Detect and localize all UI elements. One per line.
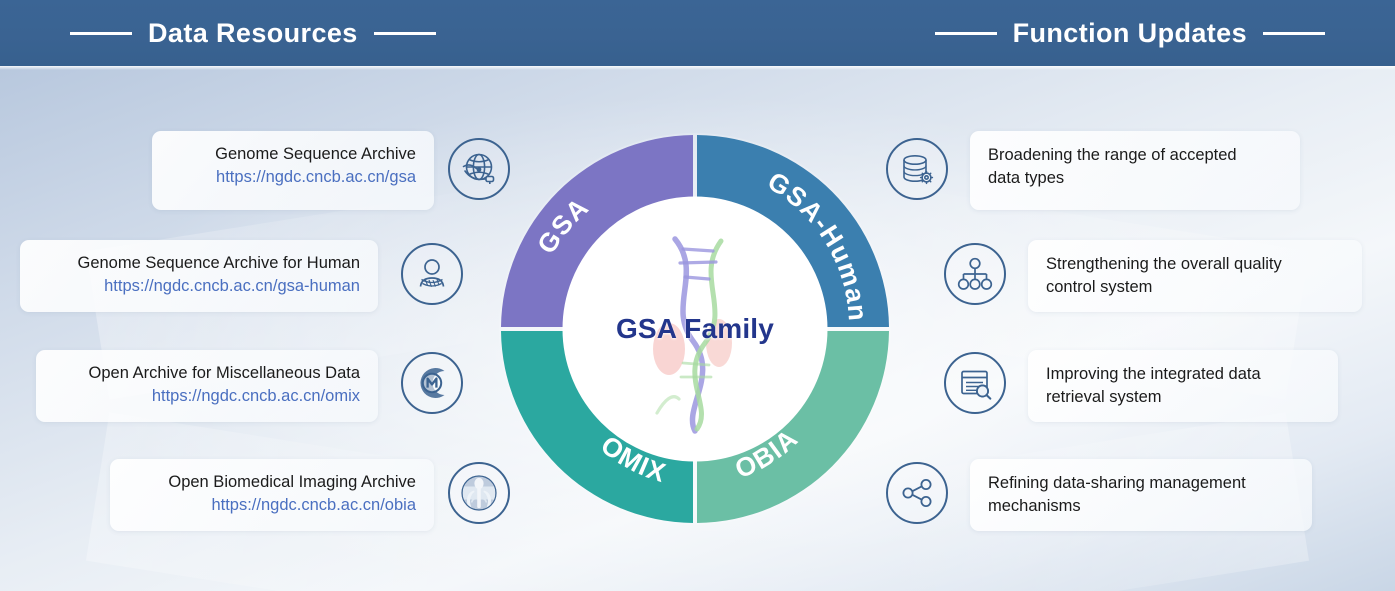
function-update-line: Broadening the range of accepted bbox=[988, 144, 1282, 167]
header-rule-left bbox=[935, 32, 997, 35]
document-search-icon[interactable] bbox=[944, 352, 1006, 414]
header-rule-right bbox=[374, 32, 436, 35]
infographic-canvas: Data Resources Function Updates Genome S… bbox=[0, 0, 1395, 591]
data-resource-card-omix[interactable]: Open Archive for Miscellaneous Data http… bbox=[36, 350, 378, 422]
data-resource-url[interactable]: https://ngdc.cncb.ac.cn/gsa-human bbox=[38, 276, 360, 298]
header-bar: Data Resources Function Updates bbox=[0, 0, 1395, 66]
data-resource-url[interactable]: https://ngdc.cncb.ac.cn/gsa bbox=[170, 167, 416, 189]
function-update-card-4[interactable]: Refining data-sharing management mechani… bbox=[970, 459, 1312, 531]
header-rule-left bbox=[70, 32, 132, 35]
database-gear-icon[interactable] bbox=[886, 138, 948, 200]
header-right-group: Function Updates bbox=[935, 0, 1325, 66]
omix-m-logo-icon[interactable] bbox=[401, 352, 463, 414]
share-nodes-icon[interactable] bbox=[886, 462, 948, 524]
function-update-line: Refining data-sharing management bbox=[988, 472, 1294, 495]
function-update-line: retrieval system bbox=[1046, 386, 1320, 409]
person-dna-icon[interactable] bbox=[401, 243, 463, 305]
function-update-line: Strengthening the overall quality bbox=[1046, 253, 1344, 276]
data-resource-card-gsa-human[interactable]: Genome Sequence Archive for Human https:… bbox=[20, 240, 378, 312]
function-update-line: data types bbox=[988, 167, 1282, 190]
gsa-family-donut-chart: GSA GSA-Human OMIX OBIA GSA Family bbox=[497, 131, 893, 527]
data-resource-card-obia[interactable]: Open Biomedical Imaging Archive https://… bbox=[110, 459, 434, 531]
data-resource-card-gsa[interactable]: Genome Sequence Archive https://ngdc.cnc… bbox=[152, 131, 434, 210]
function-update-line: control system bbox=[1046, 276, 1344, 299]
header-left-group: Data Resources bbox=[70, 0, 436, 66]
header-rule-right bbox=[1263, 32, 1325, 35]
function-update-card-3[interactable]: Improving the integrated data retrieval … bbox=[1028, 350, 1338, 422]
data-resource-url[interactable]: https://ngdc.cncb.ac.cn/obia bbox=[128, 495, 416, 517]
data-resource-url[interactable]: https://ngdc.cncb.ac.cn/omix bbox=[54, 386, 360, 408]
data-resource-title: Genome Sequence Archive bbox=[170, 144, 416, 166]
function-update-line: mechanisms bbox=[988, 495, 1294, 518]
data-resource-title: Open Biomedical Imaging Archive bbox=[128, 472, 416, 494]
xray-imaging-icon[interactable] bbox=[448, 462, 510, 524]
header-title-function-updates: Function Updates bbox=[1013, 18, 1247, 49]
function-update-card-2[interactable]: Strengthening the overall quality contro… bbox=[1028, 240, 1362, 312]
function-update-line: Improving the integrated data bbox=[1046, 363, 1320, 386]
function-update-card-1[interactable]: Broadening the range of accepted data ty… bbox=[970, 131, 1300, 210]
data-resource-title: Open Archive for Miscellaneous Data bbox=[54, 363, 360, 385]
header-title-data-resources: Data Resources bbox=[148, 18, 358, 49]
data-resource-title: Genome Sequence Archive for Human bbox=[38, 253, 360, 275]
globe-network-icon[interactable] bbox=[448, 138, 510, 200]
hierarchy-icon[interactable] bbox=[944, 243, 1006, 305]
